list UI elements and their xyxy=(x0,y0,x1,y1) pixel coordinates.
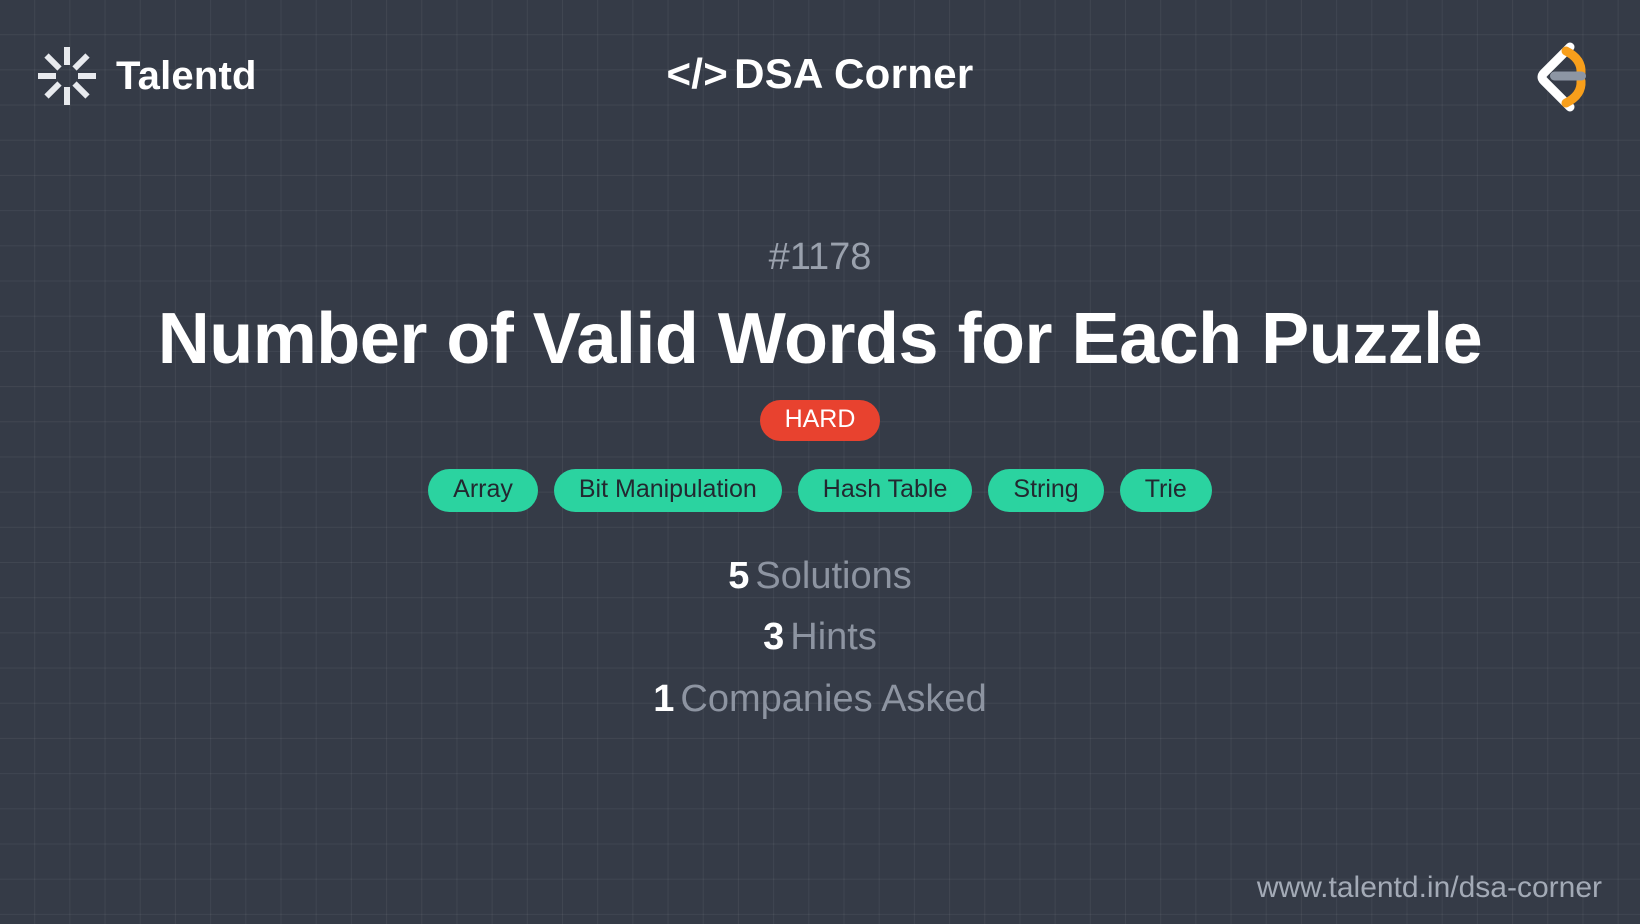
page-header: Talentd </>DSA Corner xyxy=(0,0,1640,152)
leetcode-logo-icon xyxy=(1520,35,1594,117)
tag-pill[interactable]: String xyxy=(988,469,1103,512)
brand-logo[interactable]: Talentd xyxy=(36,45,257,107)
stat-row-companies-asked: 1Companies Asked xyxy=(653,679,986,721)
page-title-text: DSA Corner xyxy=(734,50,973,97)
problem-number: #1178 xyxy=(769,238,872,276)
stat-label: Companies Asked xyxy=(680,678,986,720)
tag-pill[interactable]: Array xyxy=(428,469,538,512)
problem-title: Number of Valid Words for Each Puzzle xyxy=(158,302,1482,378)
stat-row-hints: 3Hints xyxy=(763,617,877,659)
stat-value: 3 xyxy=(763,616,784,658)
page-footer: www.talentd.in/dsa-corner xyxy=(0,852,1640,924)
code-tag-icon: </> xyxy=(666,50,728,97)
difficulty-badge: HARD xyxy=(760,400,881,441)
tag-pill[interactable]: Trie xyxy=(1120,469,1212,512)
tag-list: Array Bit Manipulation Hash Table String… xyxy=(428,469,1212,512)
tag-pill[interactable]: Bit Manipulation xyxy=(554,469,782,512)
dsa-corner-problem-card: Talentd </>DSA Corner #1178 Number of Va… xyxy=(0,0,1640,924)
stats-list: 5Solutions 3Hints 1Companies Asked xyxy=(653,556,986,721)
footer-url[interactable]: www.talentd.in/dsa-corner xyxy=(1257,873,1602,903)
stat-label: Solutions xyxy=(755,555,911,597)
stat-label: Hints xyxy=(790,616,877,658)
brand-name: Talentd xyxy=(116,56,257,96)
stat-value: 1 xyxy=(653,678,674,720)
problem-content: #1178 Number of Valid Words for Each Puz… xyxy=(0,152,1640,852)
stat-row-solutions: 5Solutions xyxy=(728,556,911,598)
asterisk-starburst-icon xyxy=(36,45,98,107)
tag-pill[interactable]: Hash Table xyxy=(798,469,973,512)
stat-value: 5 xyxy=(728,555,749,597)
